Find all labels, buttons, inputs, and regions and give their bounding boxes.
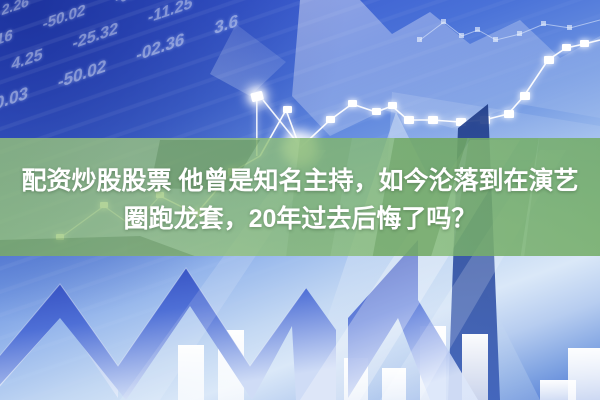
headline-text: 配资炒股股票 他曾是知名主持，如今沦落到在演艺 圈跑龙套，20年过去后悔了吗？ — [0, 162, 600, 238]
poster-canvas: -02.36-11.25-50.0221.02-02.3645.024.25-0… — [0, 0, 600, 400]
headline-line-1: 配资炒股股票 他曾是知名主持，如今沦落到在演艺 — [0, 162, 600, 200]
headline-line-2: 圈跑龙套，20年过去后悔了吗？ — [0, 200, 600, 238]
